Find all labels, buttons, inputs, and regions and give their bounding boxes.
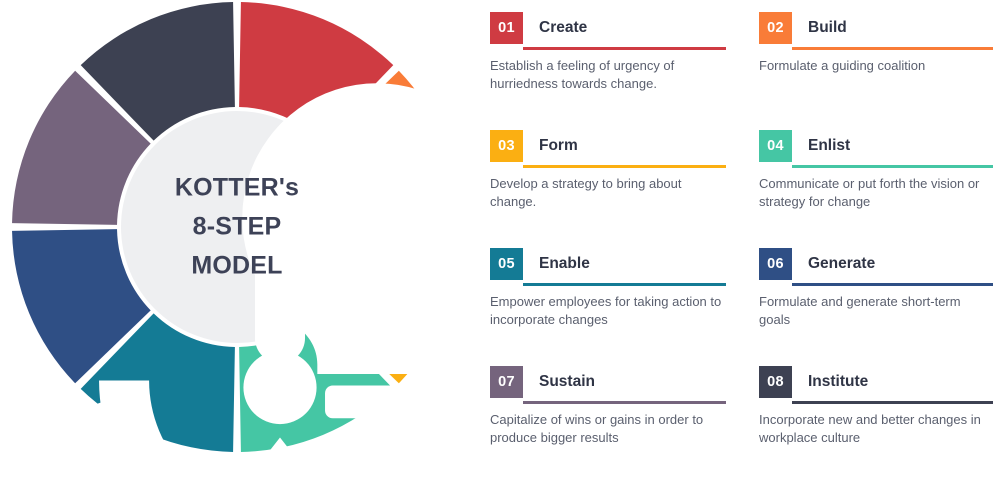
step-title: Enlist (808, 130, 993, 162)
step-title-wrap: Build (792, 12, 993, 46)
step-card-08[interactable]: 08InstituteIncorporate new and better ch… (759, 366, 993, 478)
step-description: Communicate or put forth the vision or s… (759, 175, 993, 210)
step-card-03[interactable]: 03FormDevelop a strategy to bring about … (490, 130, 726, 248)
step-title-wrap: Enlist (792, 130, 993, 164)
step-title: Create (539, 12, 726, 44)
step-number-badge: 06 (759, 248, 792, 280)
step-description: Develop a strategy to bring about change… (490, 175, 726, 210)
step-header: 04Enlist (759, 130, 993, 164)
step-title-wrap: Form (523, 130, 726, 164)
step-card-05[interactable]: 05EnableEmpower employees for taking act… (490, 248, 726, 366)
hub-line-1: KOTTER's (132, 169, 342, 208)
step-underline (792, 47, 993, 50)
step-title: Enable (539, 248, 726, 280)
step-card-01[interactable]: 01CreateEstablish a feeling of urgency o… (490, 12, 726, 130)
step-card-07[interactable]: 07SustainCapitalize of wins or gains in … (490, 366, 726, 478)
step-title-wrap: Sustain (523, 366, 726, 400)
step-number-badge: 04 (759, 130, 792, 162)
step-number-badge: 05 (490, 248, 523, 280)
step-number-badge: 02 (759, 12, 792, 44)
step-card-06[interactable]: 06GenerateFormulate and generate short-t… (759, 248, 993, 366)
donut-wheel: KOTTER's 8-STEP MODEL (6, 0, 468, 458)
step-header: 01Create (490, 12, 726, 46)
step-underline (523, 401, 726, 404)
step-card-02[interactable]: 02BuildFormulate a guiding coalition (759, 12, 993, 130)
step-underline (523, 283, 726, 286)
step-number-badge: 01 (490, 12, 523, 44)
step-title-wrap: Institute (792, 366, 993, 400)
step-description: Empower employees for taking action to i… (490, 293, 726, 328)
step-description: Formulate and generate short-term goals (759, 293, 993, 328)
step-underline (792, 401, 993, 404)
hub-line-3: MODEL (132, 247, 342, 286)
hub-label: KOTTER's 8-STEP MODEL (132, 169, 342, 286)
step-description: Establish a feeling of urgency of hurrie… (490, 57, 726, 92)
step-description: Incorporate new and better changes in wo… (759, 411, 993, 446)
step-header: 05Enable (490, 248, 726, 282)
step-title: Generate (808, 248, 993, 280)
step-title-wrap: Generate (792, 248, 993, 282)
step-description: Capitalize of wins or gains in order to … (490, 411, 726, 446)
step-underline (523, 47, 726, 50)
step-title-wrap: Enable (523, 248, 726, 282)
wheel-panel: KOTTER's 8-STEP MODEL (0, 0, 468, 478)
step-number-badge: 03 (490, 130, 523, 162)
hub-line-2: 8-STEP (132, 208, 342, 247)
step-description: Formulate a guiding coalition (759, 57, 993, 75)
step-underline (792, 283, 993, 286)
step-title-wrap: Create (523, 12, 726, 46)
step-header: 02Build (759, 12, 993, 46)
step-title: Sustain (539, 366, 726, 398)
step-number-badge: 08 (759, 366, 792, 398)
step-header: 03Form (490, 130, 726, 164)
step-card-04[interactable]: 04EnlistCommunicate or put forth the vis… (759, 130, 993, 248)
steps-list: 01CreateEstablish a feeling of urgency o… (468, 0, 993, 478)
step-underline (792, 165, 993, 168)
step-title: Build (808, 12, 993, 44)
step-number-badge: 07 (490, 366, 523, 398)
kotter-8-step-model-infographic: KOTTER's 8-STEP MODEL 01CreateEstablish … (0, 0, 993, 478)
step-header: 07Sustain (490, 366, 726, 400)
step-title: Form (539, 130, 726, 162)
step-header: 08Institute (759, 366, 993, 400)
step-title: Institute (808, 366, 993, 398)
step-header: 06Generate (759, 248, 993, 282)
step-underline (523, 165, 726, 168)
